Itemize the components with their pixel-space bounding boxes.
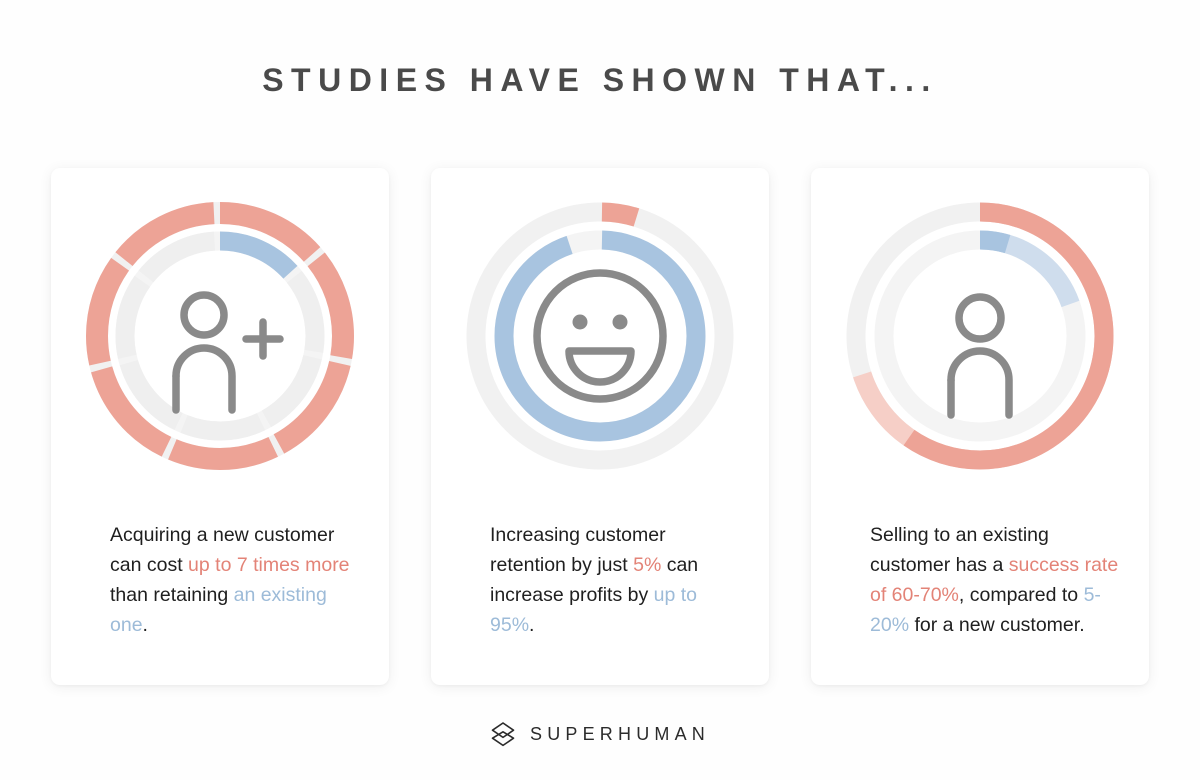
person-head bbox=[184, 295, 224, 335]
caption-seg-3-2: , compared to bbox=[959, 584, 1084, 606]
footer-brand: SUPERHUMAN bbox=[0, 720, 1200, 748]
person-head bbox=[959, 297, 1001, 339]
person-icon bbox=[951, 297, 1009, 415]
logo-diamond-bottom bbox=[492, 732, 513, 746]
smiley-eye-right bbox=[613, 315, 628, 330]
card-selling-existing-customer[interactable]: Selling to an existing customer has a su… bbox=[811, 168, 1149, 685]
caption-seg-3-4: for a new customer. bbox=[909, 614, 1085, 636]
donut-selling-existing-customer bbox=[835, 186, 1125, 486]
caption-seg-1-2: than retaining bbox=[110, 584, 234, 606]
caption-seg-1-1: up to 7 times more bbox=[188, 554, 349, 576]
donut-chart-svg-card-2 bbox=[455, 191, 745, 481]
brand-wordmark: SUPERHUMAN bbox=[530, 724, 710, 745]
cards-row: Acquiring a new customer can cost up to … bbox=[51, 168, 1149, 685]
superhuman-logo-icon bbox=[490, 720, 516, 748]
smiley-mouth bbox=[569, 351, 631, 382]
smiley-face-icon bbox=[537, 273, 663, 399]
page-title: STUDIES HAVE SHOWN THAT... bbox=[0, 62, 1200, 99]
card-acquiring-new-customer[interactable]: Acquiring a new customer can cost up to … bbox=[51, 168, 389, 685]
donut-chart-svg-card-1 bbox=[75, 191, 365, 481]
inner-ring-profit-increase bbox=[504, 240, 696, 432]
person-add-icon bbox=[176, 295, 280, 410]
logo-diamond-top bbox=[492, 723, 513, 737]
card-caption-2: Increasing customer retention by just 5%… bbox=[461, 520, 739, 640]
caption-seg-2-1: 5% bbox=[633, 554, 661, 576]
card-caption-1: Acquiring a new customer can cost up to … bbox=[81, 520, 359, 640]
person-body bbox=[951, 351, 1009, 415]
donut-acquiring-new-customer bbox=[75, 186, 365, 486]
donut-chart-svg-card-3 bbox=[835, 191, 1125, 481]
person-body bbox=[176, 348, 232, 410]
card-caption-3: Selling to an existing customer has a su… bbox=[841, 520, 1119, 640]
donut-customer-retention-profits bbox=[455, 186, 745, 486]
smiley-eye-left bbox=[573, 315, 588, 330]
caption-seg-1-4: . bbox=[143, 614, 148, 636]
infographic-page: STUDIES HAVE SHOWN THAT... bbox=[0, 0, 1200, 780]
card-customer-retention-profits[interactable]: Increasing customer retention by just 5%… bbox=[431, 168, 769, 685]
caption-seg-2-4: . bbox=[529, 614, 534, 636]
